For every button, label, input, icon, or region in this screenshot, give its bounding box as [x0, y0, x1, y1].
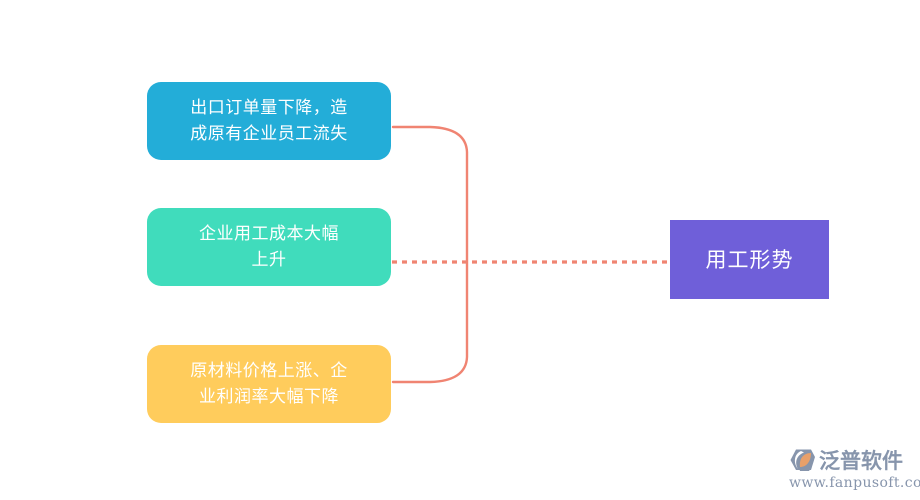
cause-box-labor-cost[interactable]: 企业用工成本大幅 上升 — [147, 208, 391, 286]
cause-box-material-price[interactable]: 原材料价格上涨、企 业利润率大幅下降 — [147, 345, 391, 423]
diagram-canvas: 出口订单量下降，造 成原有企业员工流失 企业用工成本大幅 上升 原材料价格上涨、… — [0, 0, 920, 500]
cause-box-label: 原材料价格上涨、企 业利润率大幅下降 — [190, 358, 348, 410]
logo-wordmark: 泛普软件 — [819, 449, 903, 473]
logo-url: www.fanpusoft.com — [789, 475, 920, 492]
logo-top-row: 泛普软件 — [789, 447, 903, 474]
cause-box-label: 出口订单量下降，造 成原有企业员工流失 — [190, 95, 348, 147]
fanpu-logo-icon — [789, 448, 816, 474]
cause-box-export-orders[interactable]: 出口订单量下降，造 成原有企业员工流失 — [147, 82, 391, 160]
bracket-connector-line — [393, 127, 467, 382]
result-box-label: 用工形势 — [706, 245, 794, 275]
brand-logo[interactable]: 泛普软件 www.fanpusoft.com — [789, 447, 914, 493]
cause-box-label: 企业用工成本大幅 上升 — [199, 221, 339, 273]
result-box-employment-situation[interactable]: 用工形势 — [670, 220, 829, 299]
